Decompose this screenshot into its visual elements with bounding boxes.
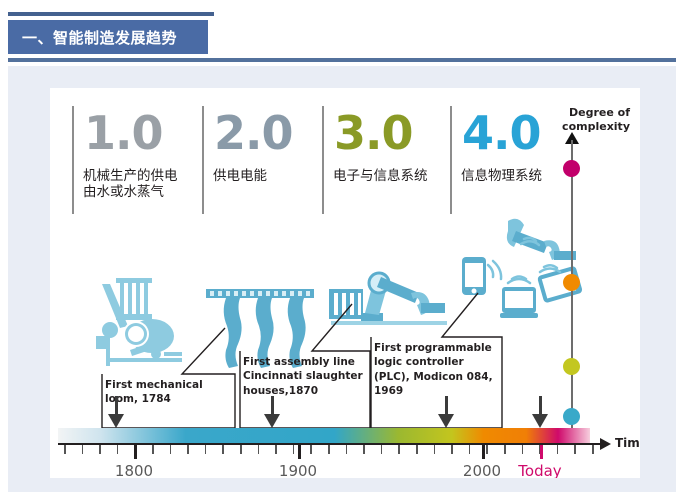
callout-line: loom, 1784 <box>105 392 230 406</box>
callout-line: First programmable <box>374 341 499 355</box>
era-divider <box>202 106 204 214</box>
industry-4-dot <box>563 160 580 177</box>
time-tick <box>398 445 400 454</box>
era-label-line2: 由水或水蒸气 <box>83 184 211 200</box>
callout-line: houses,1870 <box>243 384 368 398</box>
header-top-rule <box>8 12 214 16</box>
era-number: 2.0 <box>214 110 293 156</box>
today-tick <box>540 445 543 459</box>
time-tick <box>258 445 260 454</box>
axis-label-line1: Degree of <box>542 106 630 120</box>
time-tick <box>328 445 330 454</box>
time-tick <box>117 445 119 454</box>
marker-1870 <box>264 414 280 428</box>
time-tick <box>64 445 66 454</box>
era-number: 1.0 <box>84 110 163 156</box>
time-tick <box>504 445 506 454</box>
degree-of-complexity-label: Degree of complexity <box>542 106 630 134</box>
era-label: 机械生产的供电 由水或水蒸气 <box>83 168 211 201</box>
year-label: 1900 <box>279 462 317 478</box>
marker-1969-stem <box>445 396 448 416</box>
time-tick <box>222 445 224 454</box>
slide-header: 一、智能制造发展趋势 <box>0 0 684 68</box>
era-label-line1: 机械生产的供电 <box>83 168 211 184</box>
time-tick <box>99 445 101 454</box>
time-tick <box>451 445 453 454</box>
marker-1870-stem <box>271 396 274 416</box>
callout-line: logic controller <box>374 355 499 369</box>
time-tick <box>574 445 576 454</box>
time-tick <box>469 445 471 454</box>
industry-2-dot <box>563 358 580 375</box>
time-tick <box>522 445 524 454</box>
era-label-line1: 电子与信息系统 <box>333 168 461 184</box>
section-title-banner: 一、智能制造发展趋势 <box>8 20 208 54</box>
slide-page: 一、智能制造发展趋势 <box>0 0 684 492</box>
industry-evolution-infographic: 1.0 机械生产的供电 由水或水蒸气 2.0 供电电能 3.0 电子与信息系统 … <box>50 88 640 478</box>
page-title: 一、智能制造发展趋势 <box>8 27 177 48</box>
callout-line: (PLC), Modicon 084, <box>374 370 499 384</box>
callout-first-mechanical-loom: First mechanical loom, 1784 <box>105 378 230 407</box>
time-gradient-bar <box>58 428 590 443</box>
year-tick <box>134 445 137 459</box>
marker-1784-stem <box>115 396 118 416</box>
time-tick <box>240 445 242 454</box>
time-tick <box>82 445 84 454</box>
year-tick <box>482 445 485 459</box>
time-tick <box>592 445 594 454</box>
era-divider <box>322 106 324 214</box>
header-bottom-rule <box>8 58 676 62</box>
time-tick <box>170 445 172 454</box>
marker-1784 <box>108 414 124 428</box>
time-tick <box>275 445 277 454</box>
time-tick <box>310 445 312 454</box>
time-tick <box>381 445 383 454</box>
industry-3-dot <box>563 274 580 291</box>
time-tick <box>416 445 418 454</box>
year-tick <box>298 445 301 459</box>
time-tick <box>557 445 559 454</box>
callout-line: 1969 <box>374 384 499 398</box>
year-label: 2000 <box>463 462 501 478</box>
time-tick <box>187 445 189 454</box>
time-axis-label: Time <box>615 436 640 450</box>
time-axis-arrow-icon <box>600 438 611 450</box>
time-tick <box>486 445 488 454</box>
callout-first-assembly-line: First assembly line Cincinnati slaughter… <box>243 355 368 398</box>
era-divider <box>450 106 452 214</box>
time-tick <box>346 445 348 454</box>
marker-today-stem <box>539 396 542 416</box>
industry-1-dot <box>563 408 580 425</box>
era-label: 电子与信息系统 <box>333 168 461 184</box>
time-tick <box>205 445 207 454</box>
time-tick <box>293 445 295 454</box>
today-label: Today <box>518 462 561 478</box>
era-number: 3.0 <box>334 110 413 156</box>
era-divider <box>72 106 74 214</box>
marker-1969 <box>438 414 454 428</box>
callout-line: Cincinnati slaughter <box>243 369 368 383</box>
callout-first-plc: First programmable logic controller (PLC… <box>374 341 499 398</box>
time-tick <box>152 445 154 454</box>
callout-line: First mechanical <box>105 378 230 392</box>
marker-today <box>532 414 548 428</box>
axis-label-line2: complexity <box>542 120 630 134</box>
time-tick <box>363 445 365 454</box>
era-number: 4.0 <box>462 110 541 156</box>
time-tick <box>434 445 436 454</box>
year-label: 1800 <box>115 462 153 478</box>
callout-line: First assembly line <box>243 355 368 369</box>
